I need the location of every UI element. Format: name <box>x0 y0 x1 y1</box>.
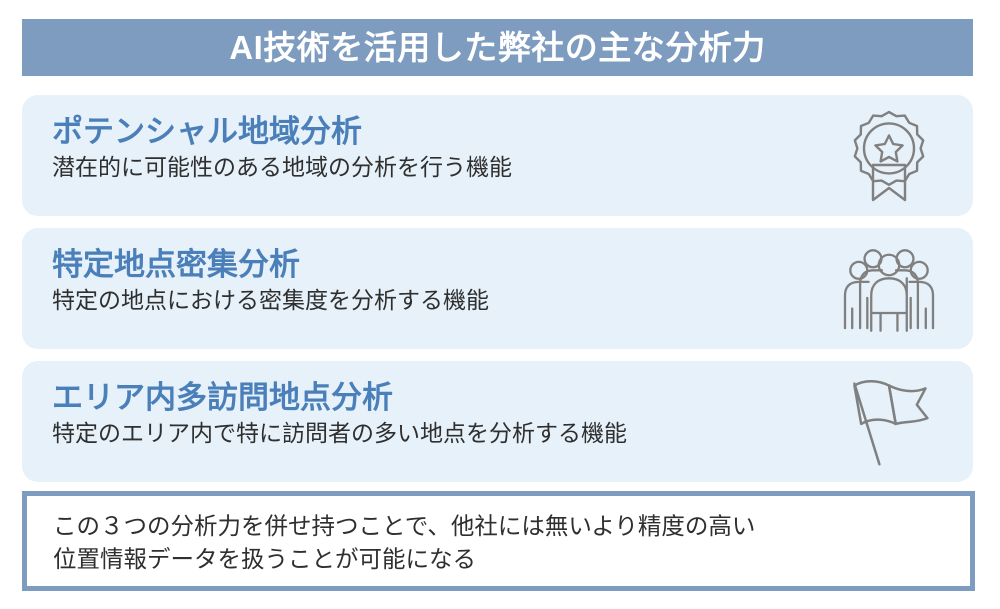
feature-card-1-heading: ポテンシャル地域分析 <box>52 114 813 151</box>
feature-card-3-text: エリア内多訪問地点分析 特定のエリア内で特に訪問者の多い地点を分析する機能 <box>52 380 813 447</box>
conclusion-text: この３つの分析力を併せ持つことで、他社には無いより精度の高い 位置情報データを扱… <box>53 510 956 577</box>
feature-card-1-text: ポテンシャル地域分析 潜在的に可能性のある地域の分析を行う機能 <box>52 114 813 181</box>
page-title: AI技術を活用した弊社の主な分析力 <box>229 31 766 64</box>
slide-root: AI技術を活用した弊社の主な分析力 ポテンシャル地域分析 潜在的に可能性のある地… <box>0 0 1000 609</box>
feature-card-2-text: 特定地点密集分析 特定の地点における密集度を分析する機能 <box>52 247 813 314</box>
people-group-icon <box>841 241 937 337</box>
conclusion-box: この３つの分析力を併せ持つことで、他社には無いより精度の高い 位置情報データを扱… <box>22 491 975 591</box>
title-banner: AI技術を活用した弊社の主な分析力 <box>22 19 973 76</box>
flag-icon <box>841 374 937 470</box>
feature-card-2-description: 特定の地点における密集度を分析する機能 <box>52 286 813 315</box>
feature-card-1-description: 潜在的に可能性のある地域の分析を行う機能 <box>52 153 813 182</box>
feature-card-3-description: 特定のエリア内で特に訪問者の多い地点を分析する機能 <box>52 419 813 448</box>
award-badge-icon <box>841 108 937 204</box>
feature-card-1[interactable]: ポテンシャル地域分析 潜在的に可能性のある地域の分析を行う機能 <box>22 95 973 216</box>
feature-card-2[interactable]: 特定地点密集分析 特定の地点における密集度を分析する機能 <box>22 228 973 349</box>
feature-card-3-heading: エリア内多訪問地点分析 <box>52 380 813 417</box>
feature-card-2-heading: 特定地点密集分析 <box>52 247 813 284</box>
feature-card-3[interactable]: エリア内多訪問地点分析 特定のエリア内で特に訪問者の多い地点を分析する機能 <box>22 361 973 482</box>
